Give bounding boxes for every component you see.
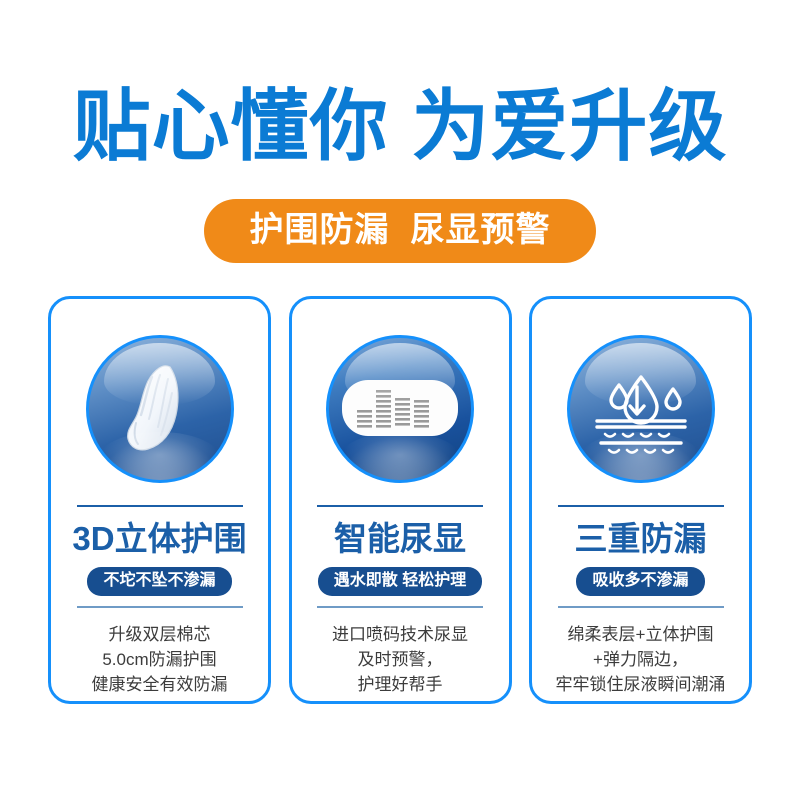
feature-card-triple-leak-proof[interactable]: 三重防漏 吸收多不渗漏 绵柔表层+立体护围 +弹力隔边， 牢牢锁住尿液瞬间潮涌 <box>529 296 752 704</box>
title-divider-bottom <box>77 606 243 608</box>
title-divider-bottom <box>317 606 483 608</box>
card-description: 进口喷码技术尿显 及时预警， 护理好帮手 <box>324 622 476 697</box>
water-droplets-layers-icon <box>567 335 715 483</box>
card-description: 绵柔表层+立体护围 +弹力隔边， 牢牢锁住尿液瞬间潮涌 <box>548 622 734 697</box>
card-badge: 吸收多不渗漏 <box>576 567 704 596</box>
feature-cards-row: 3D立体护围 不坨不坠不渗漏 升级双层棉芯 5.0cm防漏护围 健康安全有效防漏 <box>48 296 752 706</box>
card-badge: 遇水即散 轻松护理 <box>318 567 482 596</box>
feature-card-urine-indicator[interactable]: 智能尿显 遇水即散 轻松护理 进口喷码技术尿显 及时预警， 护理好帮手 <box>289 296 512 704</box>
title-divider-top <box>317 505 483 507</box>
card-description: 升级双层棉芯 5.0cm防漏护围 健康安全有效防漏 <box>84 622 236 697</box>
card-title: 3D立体护围 <box>72 519 246 559</box>
urine-indicator-bars-icon <box>326 335 474 483</box>
card-badge: 不坨不坠不渗漏 <box>87 567 231 596</box>
page-title: 贴心懂你 为爱升级 <box>0 78 800 174</box>
card-title: 三重防漏 <box>575 519 707 559</box>
title-divider-top <box>77 505 243 507</box>
title-divider-bottom <box>558 606 724 608</box>
title-divider-top <box>558 505 724 507</box>
promo-poster: 贴心懂你 为爱升级 护围防漏 尿显预警 <box>0 0 800 800</box>
feature-card-3d-guard[interactable]: 3D立体护围 不坨不坠不渗漏 升级双层棉芯 5.0cm防漏护围 健康安全有效防漏 <box>48 296 271 704</box>
diaper-guard-icon <box>86 335 234 483</box>
card-title: 智能尿显 <box>334 519 466 559</box>
banner-container: 护围防漏 尿显预警 <box>0 199 800 263</box>
feature-banner: 护围防漏 尿显预警 <box>204 199 597 263</box>
